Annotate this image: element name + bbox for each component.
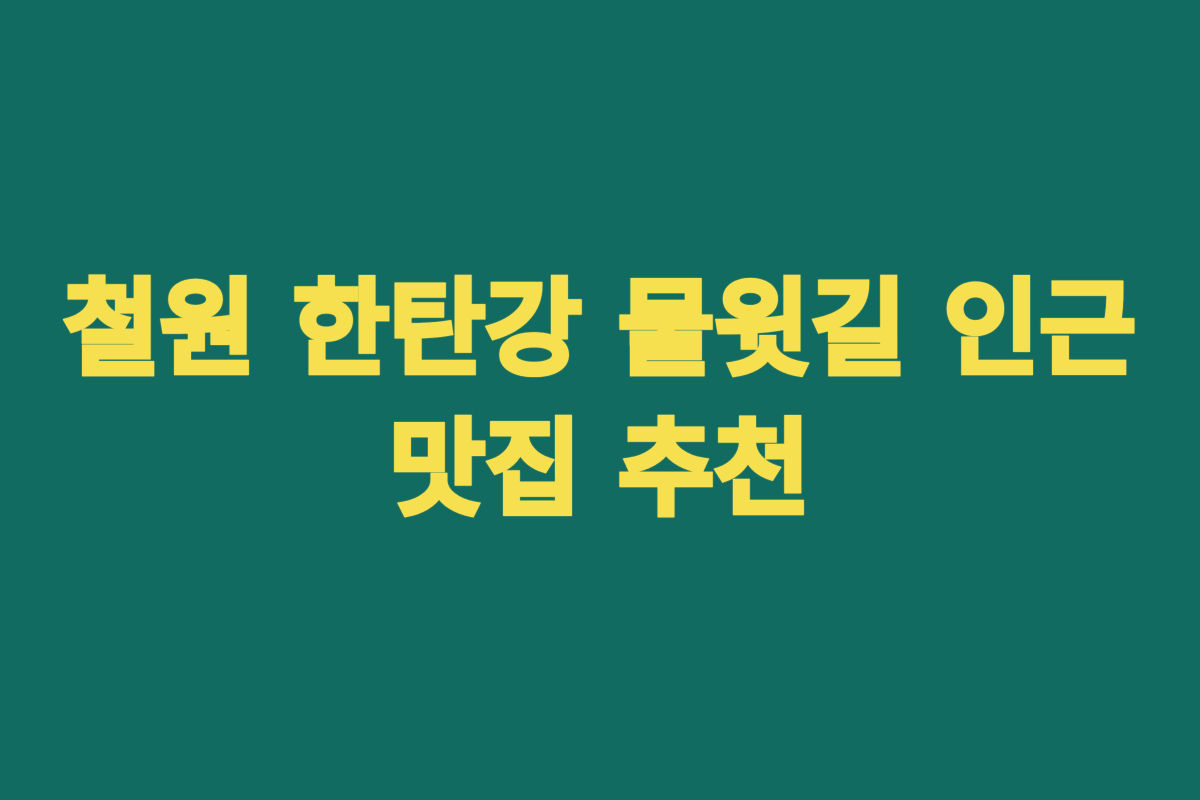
title-line-1: 철원 한탄강 물윗길 인근 — [64, 259, 1136, 399]
title-block: 철원 한탄강 물윗길 인근 맛집 추천 — [40, 259, 1160, 539]
thumbnail-canvas: 철원 한탄강 물윗길 인근 맛집 추천 — [0, 0, 1200, 800]
title-line-2: 맛집 추천 — [389, 399, 810, 539]
